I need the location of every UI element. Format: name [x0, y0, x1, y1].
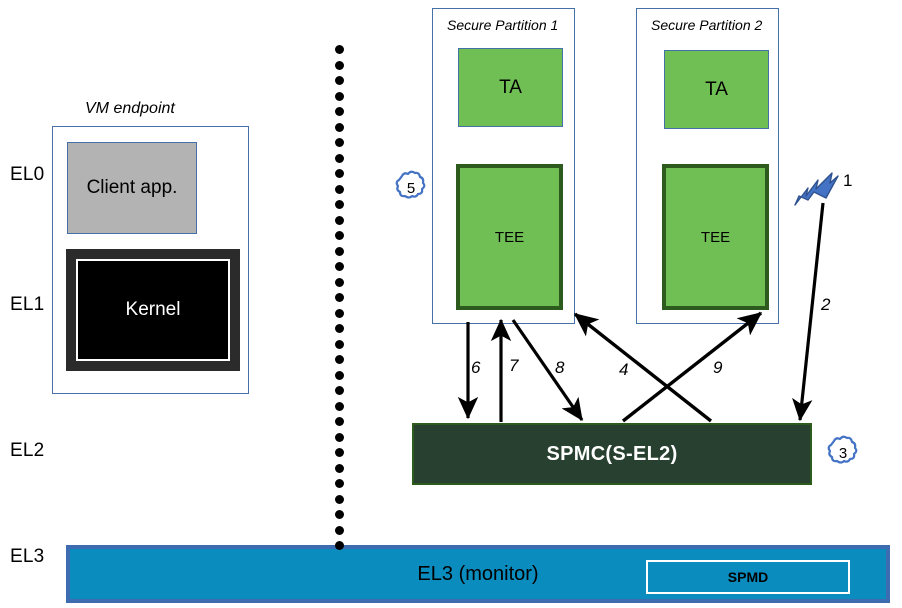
arrow-label-2: 2 — [821, 295, 830, 315]
sp2-ta-box[interactable]: TA — [664, 50, 769, 129]
client-app-box[interactable]: Client app. — [67, 142, 197, 234]
arrow-label-8: 8 — [555, 358, 564, 378]
level-label-el3: EL3 — [10, 546, 44, 568]
arrow-label-9: 9 — [713, 358, 722, 378]
level-label-el1: EL1 — [10, 294, 44, 316]
el3-monitor-bar[interactable]: EL3 (monitor) SPMD — [66, 545, 890, 603]
divider-dot — [335, 479, 344, 488]
divider-dot — [335, 495, 344, 504]
divider-dot — [335, 185, 344, 194]
divider-dot — [335, 123, 344, 132]
divider-dot — [335, 92, 344, 101]
divider-dot — [335, 340, 344, 349]
lightning-bolt-icon — [795, 173, 838, 205]
arrow-step-9 — [623, 313, 761, 421]
divider-dot — [335, 45, 344, 54]
divider-dot — [335, 231, 344, 240]
diagram-canvas: EL0 EL1 EL2 EL3 VM endpoint Client app. … — [0, 0, 902, 608]
divider-dot — [335, 200, 344, 209]
divider-dot — [335, 526, 344, 535]
sp1-ta-box[interactable]: TA — [458, 48, 563, 127]
secure-partition-2-title: Secure Partition 2 — [651, 17, 762, 33]
arrow-step-8 — [513, 320, 582, 420]
divider-dot — [335, 169, 344, 178]
cloud-marker-3: 3 — [823, 433, 863, 473]
divider-dot — [335, 138, 344, 147]
divider-dot — [335, 510, 344, 519]
divider-dot — [335, 464, 344, 473]
divider-dot — [335, 247, 344, 256]
divider-dot — [335, 262, 344, 271]
cloud-marker-5-label: 5 — [391, 168, 431, 208]
level-label-el2: EL2 — [10, 440, 44, 462]
arrow-step-4 — [575, 314, 711, 421]
spmd-box[interactable]: SPMD — [646, 560, 850, 594]
divider-dot — [335, 324, 344, 333]
bolt-label-1: 1 — [843, 171, 852, 191]
divider-dot — [335, 386, 344, 395]
cloud-marker-5: 5 — [391, 168, 431, 208]
divider-dot — [335, 448, 344, 457]
divider-dot — [335, 107, 344, 116]
divider-dot — [335, 541, 344, 550]
divider-dot — [335, 309, 344, 318]
arrow-step-2 — [800, 203, 823, 420]
spmc-box[interactable]: SPMC(S-EL2) — [412, 423, 812, 485]
divider-dot — [335, 61, 344, 70]
kernel-box[interactable]: Kernel — [76, 259, 230, 361]
vm-endpoint-title: VM endpoint — [85, 100, 175, 118]
kernel-outer-box: Kernel — [66, 249, 240, 371]
divider-dot — [335, 216, 344, 225]
arrow-label-7: 7 — [509, 356, 518, 376]
divider-dot — [335, 402, 344, 411]
divider-dot — [335, 371, 344, 380]
divider-dot — [335, 154, 344, 163]
divider-dot — [335, 278, 344, 287]
divider-dot — [335, 293, 344, 302]
level-label-el0: EL0 — [10, 164, 44, 186]
sp2-tee-box[interactable]: TEE — [662, 164, 769, 310]
divider-dot — [335, 417, 344, 426]
secure-partition-1-title: Secure Partition 1 — [447, 17, 558, 33]
arrow-label-4: 4 — [619, 360, 628, 380]
arrow-label-6: 6 — [471, 358, 480, 378]
el3-monitor-label: EL3 (monitor) — [417, 563, 538, 586]
divider-dot — [335, 433, 344, 442]
sp1-tee-box[interactable]: TEE — [456, 164, 563, 310]
divider-dot — [335, 76, 344, 85]
cloud-marker-3-label: 3 — [823, 433, 863, 473]
divider-dot — [335, 355, 344, 364]
